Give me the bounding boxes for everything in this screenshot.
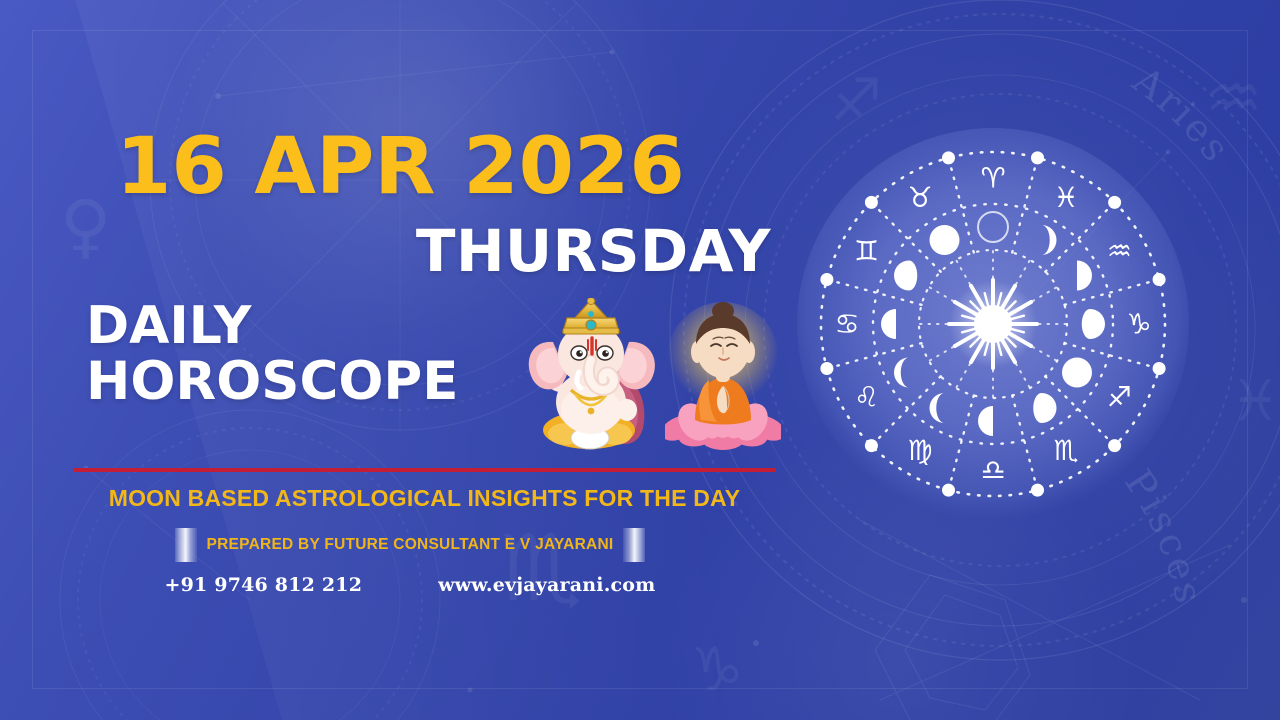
prepared-by-ribbon: PREPARED BY FUTURE CONSULTANT E V JAYARA… xyxy=(175,528,645,562)
contact-row: +91 9746 812 212 www.evjayarani.com xyxy=(130,574,690,596)
zodiac-sign-virgo: ♍ xyxy=(907,434,932,467)
zodiac-sign-scorpio: ♏ xyxy=(1053,434,1078,467)
wheel-node-dot xyxy=(865,196,878,209)
horoscope-banner: Aries Pisces ♏ ♒ ♀ ♐ ♑ ♓ 16 APR 2026 THU… xyxy=(0,0,1280,720)
zodiac-sign-cancer: ♋ xyxy=(834,308,859,341)
wheel-node-dot xyxy=(1031,151,1044,164)
ribbon-cap-right-icon xyxy=(623,528,645,562)
ganesha-icon xyxy=(523,298,663,454)
zodiac-sign-aries: ♈ xyxy=(980,162,1005,195)
website-url[interactable]: www.evjayarani.com xyxy=(438,574,655,596)
ribbon-cap-left-icon xyxy=(175,528,197,562)
wheel-node-dot xyxy=(820,362,833,375)
title-line-horoscope: HOROSCOPE xyxy=(86,354,458,410)
weekday-heading: THURSDAY xyxy=(116,222,771,280)
svg-text:♓: ♓ xyxy=(1230,369,1280,434)
title-block: DAILY HOROSCOPE xyxy=(86,298,458,410)
buddha-lotus-icon xyxy=(665,302,781,452)
wheel-node-dot xyxy=(865,439,878,452)
zodiac-sign-leo: ♌ xyxy=(854,381,879,414)
wheel-node-dot xyxy=(820,273,833,286)
deity-illustrations xyxy=(523,296,781,454)
wheel-node-dot xyxy=(1153,362,1166,375)
zodiac-wheel: ♈♓♒♑♐♏♎♍♌♋♊♉ xyxy=(788,118,1198,542)
wheel-node-dot xyxy=(1031,484,1044,497)
zodiac-sign-gemini: ♊ xyxy=(854,235,879,268)
wheel-node-dot xyxy=(942,484,955,497)
red-divider-rule xyxy=(73,468,776,472)
tagline-text: MOON BASED ASTROLOGICAL INSIGHTS FOR THE… xyxy=(73,483,776,513)
prepared-by-text: PREPARED BY FUTURE CONSULTANT E V JAYARA… xyxy=(197,536,623,554)
svg-text:♒: ♒ xyxy=(1205,62,1262,136)
zodiac-sign-pisces: ♓ xyxy=(1053,181,1078,214)
moon-phase-full-moon-2 xyxy=(930,225,960,255)
zodiac-sign-sagittarius: ♐ xyxy=(1107,381,1132,414)
wheel-node-dot xyxy=(942,151,955,164)
zodiac-sign-taurus: ♉ xyxy=(907,181,932,214)
wheel-node-dot xyxy=(1108,196,1121,209)
sun-burst-icon xyxy=(949,280,1037,368)
zodiac-sign-capricorn: ♑ xyxy=(1126,308,1151,341)
zodiac-sign-libra: ♎ xyxy=(980,454,1005,487)
wheel-node-dot xyxy=(1153,273,1166,286)
wheel-node-dot xyxy=(1108,439,1121,452)
phone-number[interactable]: +91 9746 812 212 xyxy=(165,574,363,596)
date-heading: 16 APR 2026 xyxy=(116,128,685,206)
zodiac-sign-aquarius: ♒ xyxy=(1107,235,1132,268)
title-line-daily: DAILY xyxy=(86,298,458,354)
moon-phase-full-moon xyxy=(1062,358,1092,388)
